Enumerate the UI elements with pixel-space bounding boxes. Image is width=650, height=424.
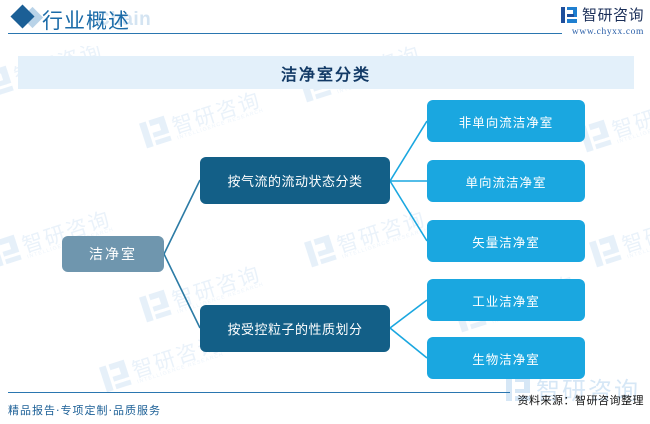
diagram-node-leaf-1[interactable]: 非单向流洁净室 <box>427 100 585 142</box>
footer-tagline: 精品报告·专项定制·品质服务 <box>8 402 161 418</box>
connector-branch2-to-leaf4 <box>390 300 427 328</box>
page-footer: 精品报告·专项定制·品质服务 资料来源：智研咨询整理 <box>0 390 650 424</box>
diagram-node-label: 单向流洁净室 <box>465 172 546 191</box>
diagram-node-label: 洁净室 <box>89 244 137 264</box>
page-title: 行业概述 <box>42 5 130 35</box>
diagram-node-leaf-5[interactable]: 生物洁净室 <box>427 337 585 379</box>
connector-branch1-to-leaf3 <box>390 181 427 241</box>
brand-logo[interactable]: 智研咨询 www.chyxx.com <box>561 4 644 37</box>
diagram-node-label: 按受控粒子的性质划分 <box>227 319 362 338</box>
diagram-node-branch1[interactable]: 按气流的流动状态分类 <box>200 157 390 204</box>
diagram-node-leaf-4[interactable]: 工业洁净室 <box>427 279 585 321</box>
chart-title: 洁净室分类 <box>281 61 371 85</box>
zhiyan-logo-icon <box>561 7 577 23</box>
diagram-node-leaf-2[interactable]: 单向流洁净室 <box>427 160 585 202</box>
diagram-node-label: 按气流的流动状态分类 <box>227 171 362 190</box>
diagram-node-label: 非单向流洁净室 <box>459 112 554 131</box>
diagram-node-leaf-3[interactable]: 矢量洁净室 <box>427 220 585 262</box>
footer-source: 资料来源：智研咨询整理 <box>518 392 645 408</box>
diagram-node-root[interactable]: 洁净室 <box>62 236 164 272</box>
header-divider <box>8 33 562 34</box>
footer-divider <box>8 392 510 393</box>
diagram-node-label: 工业洁净室 <box>472 291 540 310</box>
connector-root-to-branch2 <box>164 254 200 328</box>
diagram-node-branch2[interactable]: 按受控粒子的性质划分 <box>200 305 390 352</box>
brand-name: 智研咨询 <box>582 4 644 25</box>
diagram-node-label: 矢量洁净室 <box>472 232 540 251</box>
connector-branch2-to-leaf5 <box>390 328 427 358</box>
diagram-node-label: 生物洁净室 <box>472 349 540 368</box>
brand-url[interactable]: www.chyxx.com <box>561 27 644 37</box>
connector-branch1-to-leaf1 <box>390 121 427 181</box>
chart-title-bar: 洁净室分类 <box>18 56 634 89</box>
page-header: Chain 行业概述 智研咨询 www.chyxx.com <box>0 0 650 46</box>
connector-root-to-branch1 <box>164 180 200 254</box>
